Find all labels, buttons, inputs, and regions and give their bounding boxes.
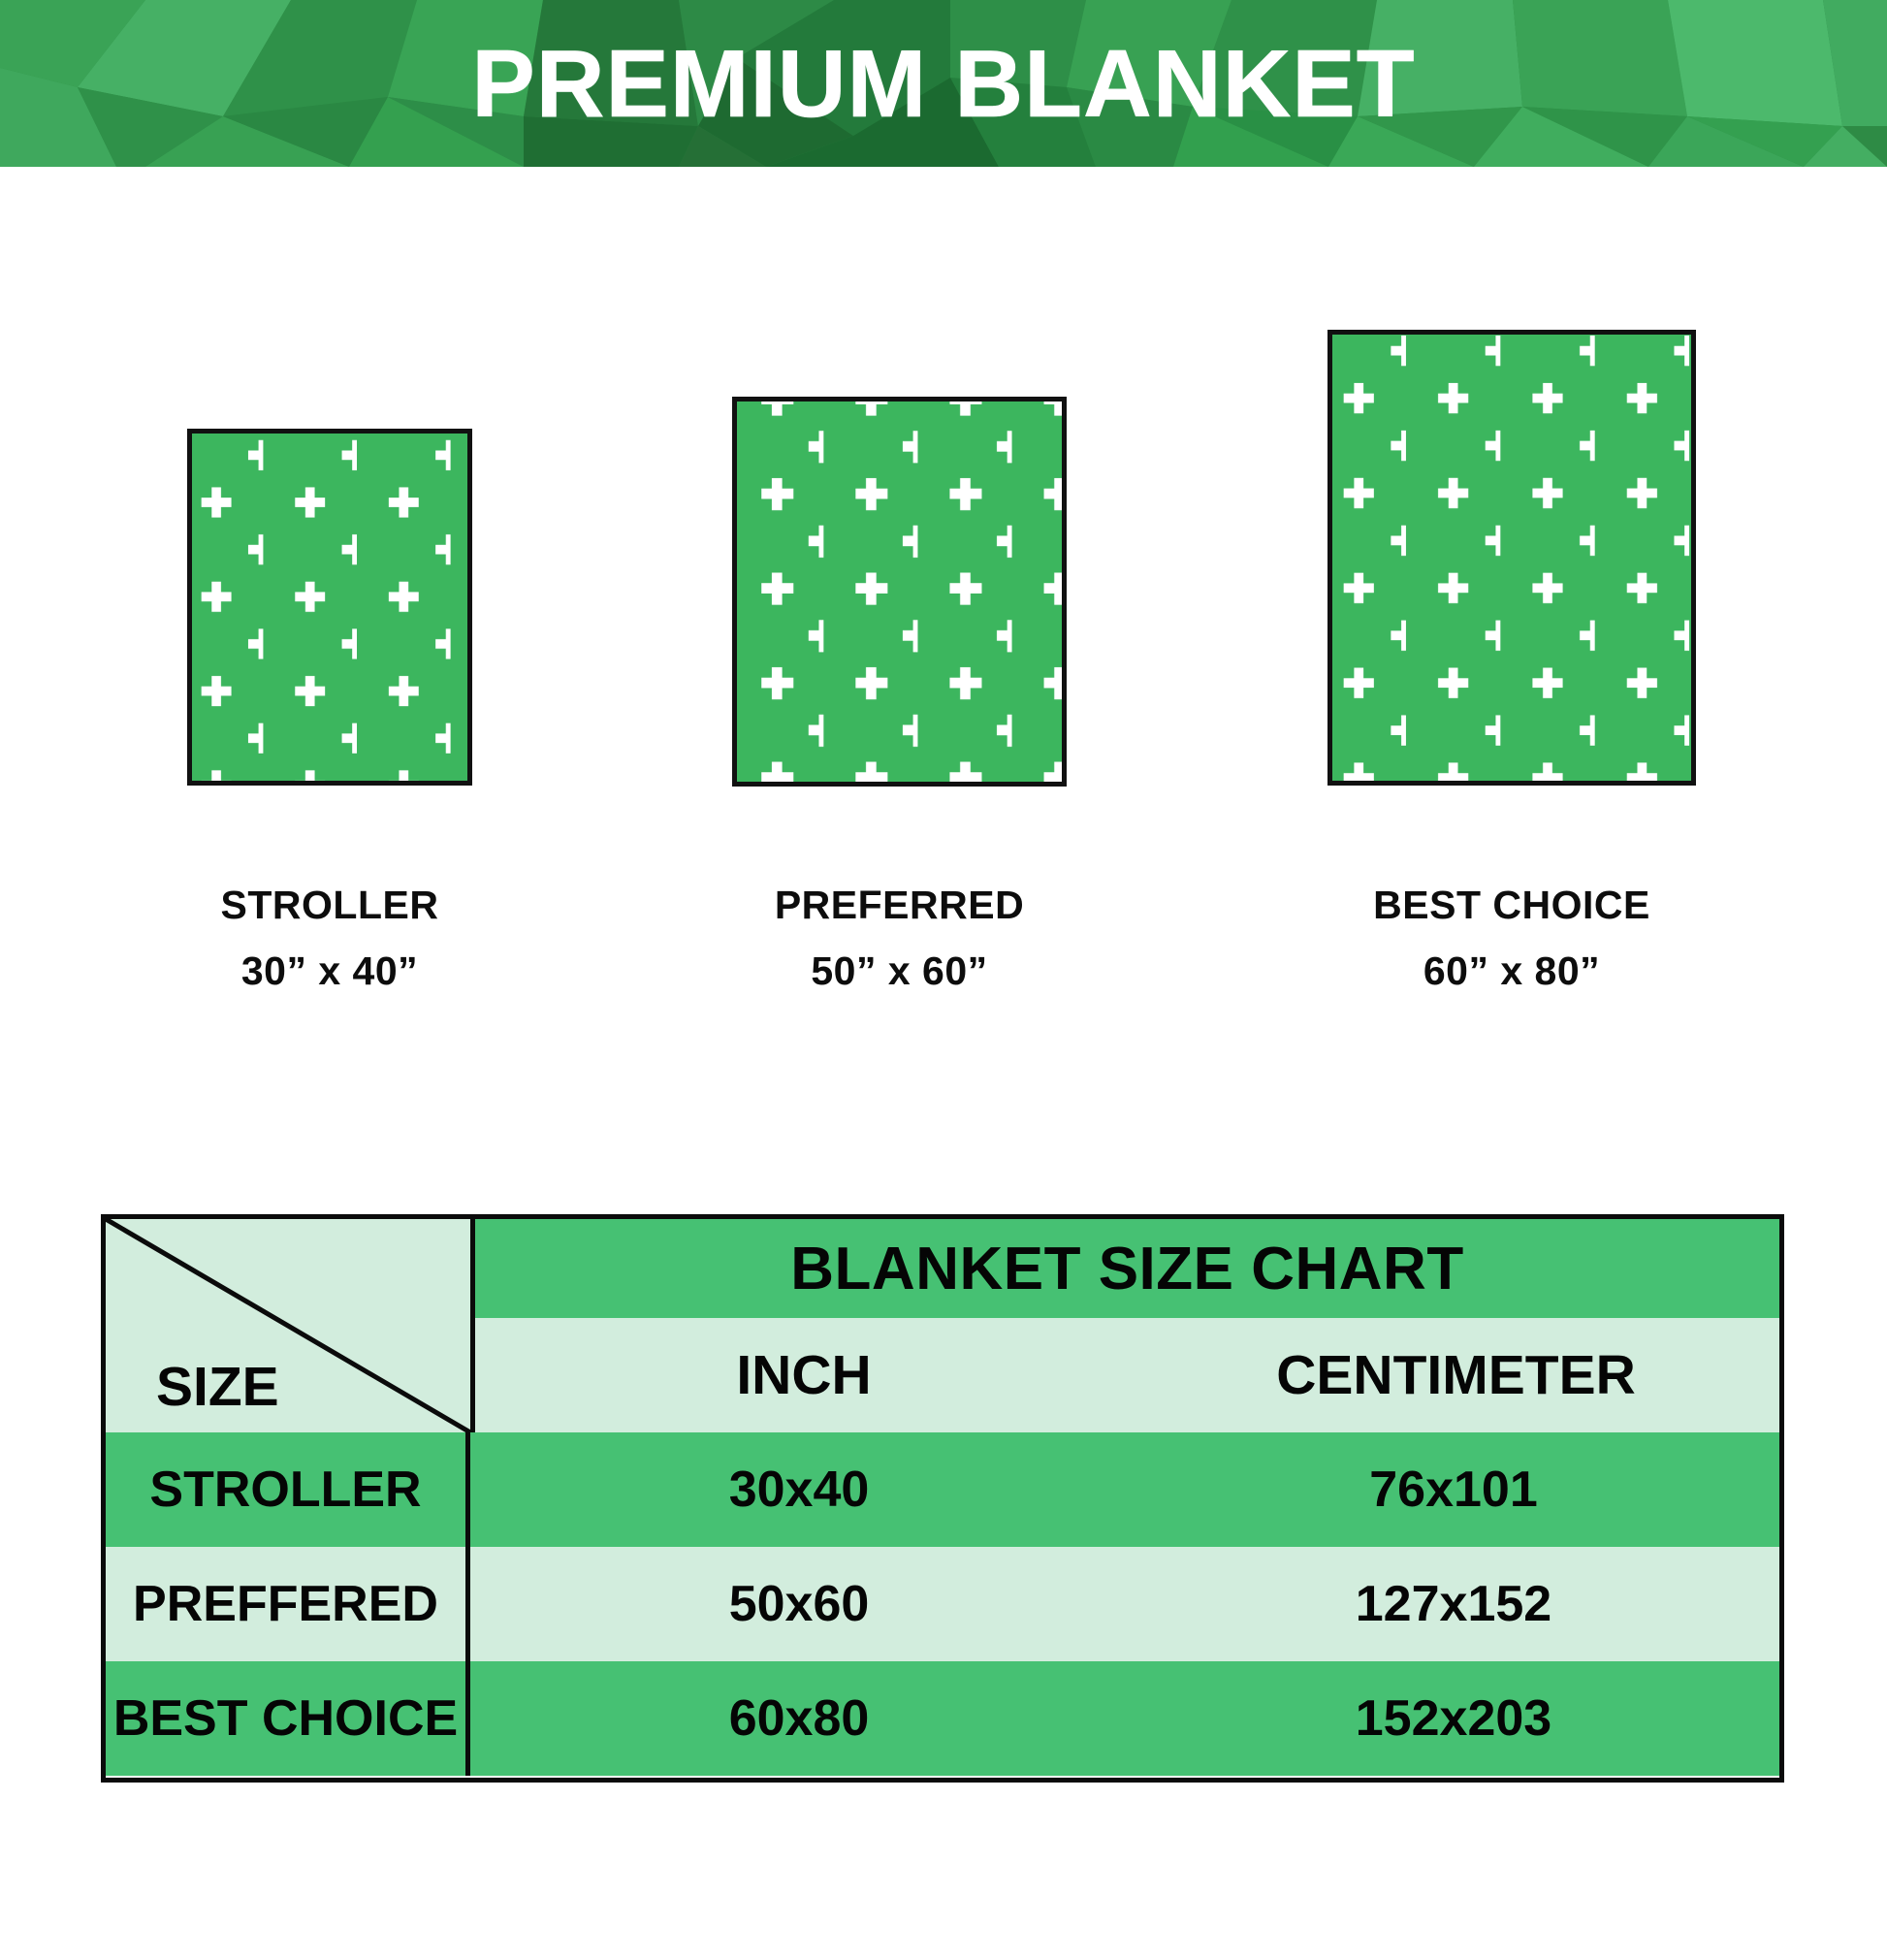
column-header-inch: INCH [475, 1318, 1133, 1432]
cell-cm-best-choice: 152x203 [1128, 1661, 1779, 1776]
swatch-dims-best-choice: 60” x 80” [1280, 948, 1743, 994]
swatch-label-stroller: STROLLER [100, 883, 560, 928]
table-header-section: SIZE BLANKET SIZE CHART INCH CENTIMETER [106, 1219, 1779, 1432]
page-title: PREMIUM BLANKET [0, 0, 1887, 167]
table-row: BEST CHOICE 60x80 152x203 [106, 1661, 1779, 1776]
swatch-dims-stroller: 30” x 40” [100, 948, 560, 994]
blanket-swatch-row: STROLLER 30” x 40” PREFERRED 50” x 60” [0, 167, 1887, 1137]
swatch-dims-preferred: 50” x 60” [562, 948, 1236, 994]
cell-size-best-choice: BEST CHOICE [106, 1661, 470, 1776]
swatch-label-best-choice: BEST CHOICE [1280, 883, 1743, 928]
plus-pattern-preferred [737, 402, 1062, 782]
table-column-header-row: INCH CENTIMETER [475, 1318, 1779, 1432]
header-banner: PREMIUM BLANKET [0, 0, 1887, 167]
swatch-label-preferred: PREFERRED [562, 883, 1236, 928]
cell-inch-preffered: 50x60 [470, 1547, 1128, 1661]
cell-inch-best-choice: 60x80 [470, 1661, 1128, 1776]
blanket-size-table: SIZE BLANKET SIZE CHART INCH CENTIMETER … [101, 1214, 1784, 1783]
blanket-swatch-preferred [732, 397, 1067, 787]
cell-cm-stroller: 76x101 [1128, 1432, 1779, 1547]
cell-size-preffered: PREFFERED [106, 1547, 470, 1661]
table-title: BLANKET SIZE CHART [475, 1219, 1779, 1318]
table-row: STROLLER 30x40 76x101 [106, 1432, 1779, 1547]
column-header-centimeter: CENTIMETER [1133, 1318, 1779, 1432]
blanket-swatch-stroller [187, 429, 472, 786]
cell-inch-stroller: 30x40 [470, 1432, 1128, 1547]
table-corner-label: SIZE [106, 1219, 470, 1432]
cell-cm-preffered: 127x152 [1128, 1547, 1779, 1661]
blanket-swatch-best-choice [1327, 330, 1696, 786]
cell-size-stroller: STROLLER [106, 1432, 470, 1547]
plus-pattern-best-choice [1332, 335, 1691, 781]
table-header-right-stack: BLANKET SIZE CHART INCH CENTIMETER [475, 1219, 1779, 1432]
plus-pattern-stroller [192, 434, 467, 781]
table-corner-size-cell: SIZE [106, 1219, 475, 1432]
table-row: PREFFERED 50x60 127x152 [106, 1547, 1779, 1661]
